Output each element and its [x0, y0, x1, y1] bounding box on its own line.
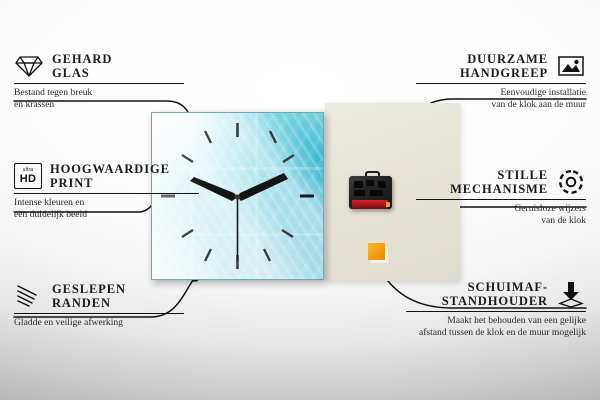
- hour-mark-1: [270, 131, 276, 143]
- mechanism-slot-2: [366, 180, 374, 186]
- divider: [14, 193, 199, 194]
- feature-subtitle: Gladde en veilige afwerking: [14, 317, 184, 328]
- mechanism-battery: [352, 200, 388, 209]
- feature-stille-mechanisme: STILLE MECHANISME Geruisloze wijzers van…: [416, 168, 586, 226]
- feature-subtitle: Maakt het behouden van een gelijke afsta…: [406, 315, 586, 338]
- mechanism-slot-1: [354, 181, 363, 188]
- diamond-icon: [14, 53, 44, 79]
- feature-gehard-glas: GEHARD GLAS Bestand tegen breuk en krass…: [14, 52, 184, 110]
- feature-title: SCHUIMAF- STANDHOUDER: [442, 280, 548, 308]
- feature-subtitle: Geruisloze wijzers van de klok: [416, 203, 586, 226]
- gear-icon: [556, 168, 586, 196]
- mechanism-housing: [349, 176, 392, 209]
- arrow-down-to-plate-icon: [556, 280, 586, 308]
- ultra-hd-badge-icon: ultra HD: [14, 163, 42, 189]
- divider: [406, 311, 586, 312]
- clock-center-cap: [235, 194, 240, 199]
- feature-subtitle: Intense kleuren en een duidelijk beeld: [14, 197, 199, 220]
- mechanism-slot-5: [370, 190, 383, 196]
- beveled-edges-icon: [14, 283, 44, 309]
- hour-mark-8: [182, 230, 193, 237]
- feature-hoogwaardige-print: ultra HD HOOGWAARDIGE PRINT Intense kleu…: [14, 162, 199, 220]
- feature-subtitle: Eenvoudige installatie van de klok aan d…: [416, 87, 586, 110]
- mechanism-slot-3: [378, 181, 386, 188]
- hour-mark-11: [205, 131, 211, 143]
- feature-title: STILLE MECHANISME: [450, 168, 548, 196]
- hour-mark-7: [205, 249, 211, 261]
- hour-mark-10: [182, 155, 193, 162]
- mechanism-slot-4: [354, 190, 365, 196]
- divider: [14, 313, 184, 314]
- hour-mark-4: [282, 230, 293, 237]
- infographic-canvas: GEHARD GLAS Bestand tegen breuk en krass…: [0, 0, 600, 400]
- clock-mechanism: [349, 171, 392, 209]
- feature-title: DUURZAME HANDGREEP: [460, 52, 548, 80]
- feature-duurzame-handgreep: DUURZAME HANDGREEP Eenvoudige installati…: [416, 52, 586, 110]
- feature-subtitle: Bestand tegen breuk en krassen: [14, 87, 184, 110]
- ultra-hd-badge-top: ultra: [23, 168, 34, 173]
- feature-title: GEHARD GLAS: [52, 52, 112, 80]
- feature-title: GESLEPEN RANDEN: [52, 282, 126, 310]
- ultra-hd-badge-main: HD: [20, 174, 37, 185]
- feature-geslepen-randen: GESLEPEN RANDEN Gladde en veilige afwerk…: [14, 282, 184, 329]
- minute-hand: [238, 173, 289, 201]
- foam-spacer: [368, 243, 385, 260]
- hour-mark-2: [283, 155, 294, 162]
- picture-frame-icon: [556, 53, 586, 79]
- divider: [416, 83, 586, 84]
- feature-schuimafstandhouder: SCHUIMAF- STANDHOUDER Maakt het behouden…: [406, 280, 586, 338]
- divider: [416, 199, 586, 200]
- divider: [14, 83, 184, 84]
- feature-title: HOOGWAARDIGE PRINT: [50, 162, 170, 190]
- hour-mark-5: [264, 249, 270, 261]
